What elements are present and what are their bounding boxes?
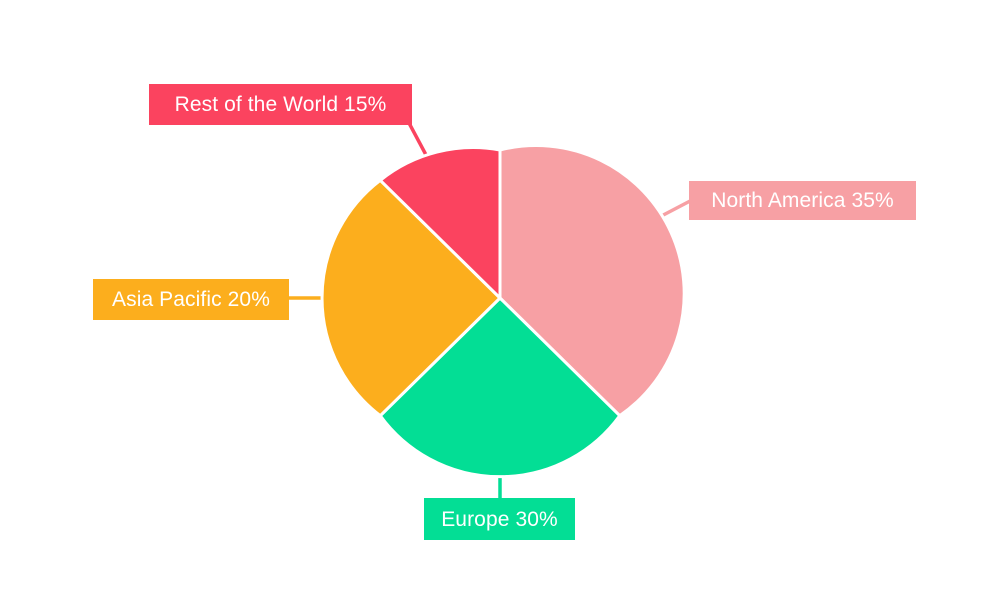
pie-slices xyxy=(322,146,684,477)
pie-label-rest-of-world[interactable]: Rest of the World 15% xyxy=(149,84,412,125)
pie-label-asia-pacific[interactable]: Asia Pacific 20% xyxy=(93,279,289,320)
pie-label-europe-text: Europe 30% xyxy=(441,509,558,530)
pie-chart-figure: North America 35% Europe 30% Asia Pacifi… xyxy=(0,0,1000,600)
pie-label-asia-pacific-text: Asia Pacific 20% xyxy=(112,289,270,310)
pie-label-rest-of-world-text: Rest of the World 15% xyxy=(175,94,387,115)
pie-label-north-america[interactable]: North America 35% xyxy=(689,181,916,220)
pie-label-north-america-text: North America 35% xyxy=(711,190,894,211)
pie-label-europe[interactable]: Europe 30% xyxy=(424,498,575,540)
